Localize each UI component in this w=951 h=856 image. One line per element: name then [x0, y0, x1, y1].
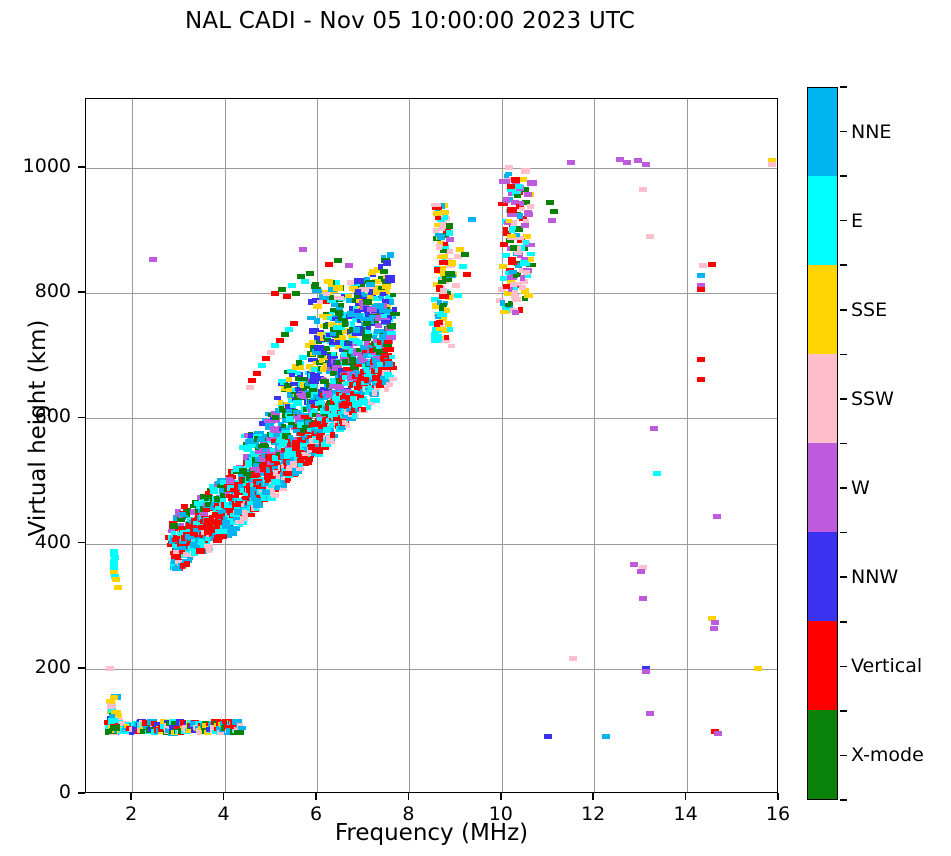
colorbar-segment-ssw — [808, 354, 837, 444]
scatter-point — [299, 365, 304, 370]
x-axis-tick — [592, 793, 594, 800]
gridline-horizontal — [86, 669, 777, 670]
scatter-point — [292, 472, 299, 476]
scatter-point — [503, 227, 508, 232]
scatter-point — [527, 204, 534, 209]
x-axis-tick — [777, 793, 779, 800]
scatter-point — [271, 343, 279, 348]
scatter-point — [513, 273, 518, 278]
scatter-point — [319, 314, 324, 318]
scatter-point — [637, 569, 645, 574]
x-axis-tick — [130, 793, 132, 800]
scatter-point — [366, 326, 371, 330]
scatter-point — [435, 233, 443, 237]
scatter-point — [517, 213, 523, 219]
y-axis-tick-label: 0 — [0, 781, 71, 803]
gridline-vertical — [225, 99, 226, 792]
scatter-point — [385, 361, 393, 367]
scatter-point — [642, 162, 650, 167]
colorbar-segment-w — [808, 443, 837, 533]
scatter-point — [342, 321, 348, 327]
scatter-point — [433, 211, 441, 216]
colorbar-label-nne: NNE — [851, 121, 891, 143]
scatter-point — [285, 327, 293, 332]
colorbar-boundary-tick — [840, 175, 847, 177]
scatter-point — [345, 263, 353, 268]
scatter-point — [519, 285, 526, 290]
scatter-point — [524, 210, 532, 216]
scatter-point — [433, 334, 442, 339]
colorbar-label-w: W — [851, 477, 870, 499]
scatter-point — [384, 347, 394, 352]
scatter-point — [307, 458, 313, 462]
scatter-point — [508, 270, 517, 274]
scatter-point — [524, 192, 532, 197]
scatter-point — [697, 357, 705, 362]
scatter-point — [521, 168, 530, 174]
y-axis-tick-label: 1000 — [0, 155, 71, 177]
scatter-point — [253, 503, 263, 508]
scatter-point — [446, 223, 453, 229]
scatter-point — [440, 288, 447, 294]
scatter-point — [697, 287, 705, 292]
scatter-point — [312, 289, 322, 293]
scatter-point — [448, 344, 455, 348]
scatter-point — [288, 283, 296, 288]
scatter-point — [510, 245, 517, 251]
scatter-point — [110, 549, 118, 554]
scatter-point — [519, 177, 527, 182]
scatter-point — [114, 585, 122, 590]
scatter-point — [452, 283, 460, 288]
scatter-point — [238, 726, 246, 730]
scatter-point — [281, 332, 289, 337]
scatter-point — [507, 207, 517, 213]
scatter-point — [354, 278, 364, 284]
scatter-point — [384, 340, 392, 344]
scatter-point — [366, 405, 371, 410]
scatter-point — [386, 382, 393, 387]
scatter-point — [273, 433, 280, 437]
scatter-point — [436, 244, 442, 250]
scatter-point — [334, 296, 344, 300]
scatter-point — [514, 194, 521, 198]
scatter-point — [111, 555, 119, 560]
scatter-point — [384, 372, 392, 376]
scatter-point — [278, 287, 286, 292]
scatter-point — [500, 310, 509, 314]
scatter-point — [299, 355, 307, 360]
scatter-point — [569, 656, 577, 661]
scatter-point — [697, 273, 705, 278]
scatter-point — [374, 398, 380, 403]
scatter-point — [602, 734, 610, 739]
scatter-point — [389, 299, 394, 305]
y-axis-tick — [78, 291, 85, 293]
scatter-point — [463, 272, 471, 277]
scatter-point — [499, 179, 508, 184]
colorbar-label-sse: SSE — [851, 299, 887, 321]
scatter-point — [754, 666, 762, 671]
scatter-point — [503, 284, 510, 289]
scatter-point — [262, 356, 270, 361]
scatter-point — [196, 548, 205, 554]
scatter-point — [210, 489, 218, 494]
scatter-point — [290, 321, 298, 326]
colorbar-label-nnw: NNW — [851, 566, 898, 588]
scatter-point — [387, 252, 394, 258]
scatter-point — [634, 158, 642, 163]
scatter-point — [372, 335, 377, 339]
scatter-point — [106, 666, 114, 671]
scatter-point — [108, 718, 118, 723]
colorbar-center-tick — [840, 398, 847, 400]
gridline-vertical — [132, 99, 133, 792]
scatter-point — [295, 371, 301, 375]
scatter-point — [445, 321, 452, 327]
scatter-point — [623, 160, 631, 165]
scatter-point — [355, 289, 361, 295]
scatter-point — [334, 258, 342, 263]
scatter-point — [390, 293, 396, 297]
scatter-point — [507, 184, 515, 189]
colorbar-center-tick — [840, 220, 847, 222]
scatter-point — [446, 230, 453, 236]
colorbar-center-tick — [840, 576, 847, 578]
scatter-point — [768, 162, 776, 167]
scatter-point — [503, 198, 509, 203]
scatter-point — [519, 201, 524, 206]
colorbar-label-x-mode: X-mode — [851, 744, 924, 766]
colorbar-boundary-tick — [840, 443, 847, 445]
scatter-point — [512, 297, 521, 302]
scatter-point — [206, 548, 212, 553]
scatter-point — [333, 285, 343, 291]
colorbar-boundary-tick — [840, 532, 847, 534]
scatter-point — [439, 260, 448, 265]
scatter-point — [699, 263, 707, 268]
colorbar-center-tick — [840, 755, 847, 757]
scatter-point — [392, 307, 397, 312]
x-axis-label: Frequency (MHz) — [85, 820, 778, 846]
scatter-point — [355, 315, 360, 319]
scatter-point — [505, 165, 513, 170]
scatter-point — [289, 373, 295, 377]
scatter-point — [361, 407, 366, 412]
scatter-point — [379, 308, 385, 313]
gridline-vertical — [409, 99, 410, 792]
scatter-point — [646, 234, 654, 239]
scatter-point — [443, 254, 448, 258]
x-axis-tick — [315, 793, 317, 800]
scatter-point — [646, 711, 654, 716]
scatter-point — [307, 316, 316, 320]
scatter-point — [653, 471, 661, 476]
y-axis-tick — [78, 792, 85, 794]
colorbar-center-tick — [840, 131, 847, 133]
colorbar-boundary-tick — [840, 799, 847, 801]
scatter-point — [521, 223, 529, 228]
colorbar-boundary-tick — [840, 86, 847, 88]
scatter-point — [327, 316, 332, 320]
scatter-point — [548, 218, 556, 223]
colorbar-boundary-tick — [840, 621, 847, 623]
scatter-point — [301, 279, 309, 284]
y-axis-tick — [78, 667, 85, 669]
scatter-point — [528, 257, 534, 262]
scatter-point — [367, 307, 376, 312]
scatter-point — [523, 234, 531, 239]
scatter-point — [504, 174, 509, 178]
scatter-point — [710, 626, 718, 631]
scatter-point — [650, 426, 658, 431]
scatter-point — [248, 444, 256, 448]
scatter-point — [110, 695, 118, 700]
scatter-point — [296, 467, 304, 471]
scatter-point — [331, 352, 336, 356]
scatter-point — [550, 209, 558, 214]
colorbar-label-vertical: Vertical — [851, 655, 922, 677]
gridline-horizontal — [86, 293, 777, 294]
scatter-point — [506, 219, 512, 223]
colorbar-center-tick — [840, 666, 847, 668]
scatter-point — [437, 313, 447, 317]
scatter-point — [524, 294, 529, 298]
scatter-point — [346, 298, 352, 303]
scatter-point — [272, 415, 279, 420]
plot-area — [85, 98, 778, 793]
scatter-point — [366, 282, 375, 287]
scatter-point — [444, 335, 449, 340]
scatter-point — [382, 284, 391, 289]
scatter-point — [510, 282, 517, 287]
colorbar-boundary-tick — [840, 354, 847, 356]
y-axis-label: Virtual height (km) — [25, 268, 51, 588]
scatter-point — [108, 705, 115, 709]
scatter-point — [385, 277, 395, 283]
scatter-point — [253, 371, 261, 376]
scatter-point — [313, 304, 322, 309]
scatter-point — [383, 260, 391, 266]
scatter-point — [544, 734, 552, 739]
scatter-point — [512, 290, 518, 296]
scatter-point — [309, 379, 319, 384]
scatter-point — [440, 266, 446, 271]
scatter-point — [523, 240, 529, 245]
scatter-point — [325, 262, 333, 267]
gridline-horizontal — [86, 418, 777, 419]
scatter-point — [375, 317, 381, 321]
colorbar-label-ssw: SSW — [851, 388, 894, 410]
scatter-point — [362, 334, 372, 338]
scatter-point — [516, 236, 524, 240]
scatter-point — [642, 669, 650, 674]
scatter-point — [381, 320, 391, 324]
gridline-vertical — [687, 99, 688, 792]
scatter-point — [711, 620, 719, 625]
y-axis-tick-label: 200 — [0, 656, 71, 678]
scatter-point — [267, 350, 275, 355]
scatter-point — [380, 269, 388, 274]
colorbar-segment-nne — [808, 87, 837, 176]
scatter-point — [170, 523, 178, 529]
colorbar-label-e: E — [851, 210, 863, 232]
scatter-point — [523, 270, 530, 275]
scatter-point — [110, 725, 120, 731]
scatter-point — [353, 327, 360, 333]
x-axis-tick — [408, 793, 410, 800]
scatter-point — [299, 247, 307, 252]
scatter-point — [527, 252, 535, 256]
scatter-point — [283, 294, 291, 299]
scatter-point — [258, 363, 266, 368]
scatter-point — [390, 312, 400, 316]
scatter-point — [520, 275, 525, 281]
colorbar — [807, 87, 838, 800]
scatter-point — [439, 294, 449, 299]
colorbar-segment-x-mode — [808, 710, 837, 800]
colorbar-segment-vertical — [808, 621, 837, 711]
scatter-point — [329, 384, 335, 389]
scatter-point — [439, 226, 445, 231]
scatter-point — [248, 378, 256, 383]
scatter-point — [373, 296, 378, 300]
scatter-point — [352, 413, 357, 419]
scatter-point — [234, 730, 244, 735]
scatter-point — [380, 292, 386, 296]
scatter-point — [276, 338, 284, 343]
scatter-point — [317, 300, 323, 304]
scatter-point — [440, 210, 449, 215]
scatter-point — [312, 282, 319, 286]
scatter-point — [461, 252, 469, 257]
scatter-point — [431, 203, 441, 207]
scatter-point — [500, 300, 505, 306]
scatter-point — [519, 207, 525, 211]
data-canvas — [86, 99, 777, 792]
scatter-point — [714, 731, 722, 736]
scatter-point — [290, 461, 297, 466]
scatter-point — [235, 520, 244, 524]
scatter-point — [438, 280, 446, 284]
scatter-point — [364, 377, 369, 383]
scatter-point — [228, 526, 238, 530]
scatter-point — [639, 596, 647, 601]
y-axis-tick — [78, 542, 85, 544]
scatter-point — [630, 562, 638, 567]
scatter-point — [447, 327, 453, 332]
gridline-horizontal — [86, 168, 777, 169]
y-axis-tick — [78, 166, 85, 168]
scatter-point — [447, 260, 456, 266]
scatter-point — [468, 217, 476, 222]
scatter-point — [459, 264, 467, 269]
scatter-point — [443, 242, 448, 246]
scatter-point — [697, 377, 705, 382]
scatter-point — [112, 577, 120, 582]
colorbar-boundary-tick — [840, 264, 847, 266]
scatter-point — [292, 291, 300, 296]
scatter-point — [708, 262, 716, 267]
scatter-point — [149, 257, 157, 262]
scatter-point — [345, 423, 350, 428]
scatter-point — [389, 377, 397, 381]
scatter-point — [508, 261, 517, 265]
x-axis-tick — [500, 793, 502, 800]
scatter-point — [507, 234, 516, 238]
scatter-point — [512, 310, 519, 315]
scatter-point — [296, 402, 302, 406]
scatter-point — [306, 271, 314, 276]
scatter-point — [567, 160, 575, 165]
scatter-point — [436, 327, 446, 331]
scatter-point — [523, 219, 529, 223]
scatter-point — [436, 320, 443, 325]
scatter-point — [515, 184, 523, 189]
scatter-point — [454, 293, 462, 298]
colorbar-segment-sse — [808, 265, 837, 355]
scatter-point — [335, 310, 343, 316]
scatter-point — [200, 512, 208, 516]
gridline-vertical — [594, 99, 595, 792]
scatter-point — [527, 180, 537, 186]
scatter-point — [508, 301, 513, 306]
x-axis-tick — [685, 793, 687, 800]
colorbar-center-tick — [840, 309, 847, 311]
scatter-point — [226, 477, 233, 482]
scatter-point — [511, 177, 520, 183]
scatter-point — [204, 544, 213, 548]
scatter-point — [434, 267, 440, 273]
colorbar-segment-nnw — [808, 532, 837, 622]
scatter-point — [248, 513, 255, 517]
scatter-point — [323, 292, 330, 296]
colorbar-boundary-tick — [840, 710, 847, 712]
scatter-point — [516, 226, 521, 232]
scatter-point — [445, 271, 455, 277]
x-axis-tick — [223, 793, 225, 800]
scatter-point — [546, 200, 554, 205]
colorbar-segment-e — [808, 176, 837, 266]
scatter-point — [363, 299, 372, 305]
scatter-point — [440, 303, 447, 307]
scatter-point — [181, 504, 188, 509]
scatter-point — [639, 187, 647, 192]
scatter-point — [246, 385, 254, 390]
figure-title: NAL CADI - Nov 05 10:00:00 2023 UTC — [0, 8, 820, 34]
scatter-point — [330, 432, 335, 438]
scatter-point — [184, 561, 190, 567]
y-axis-tick — [78, 417, 85, 419]
scatter-point — [372, 390, 377, 396]
scatter-point — [713, 514, 721, 519]
colorbar-center-tick — [840, 487, 847, 489]
